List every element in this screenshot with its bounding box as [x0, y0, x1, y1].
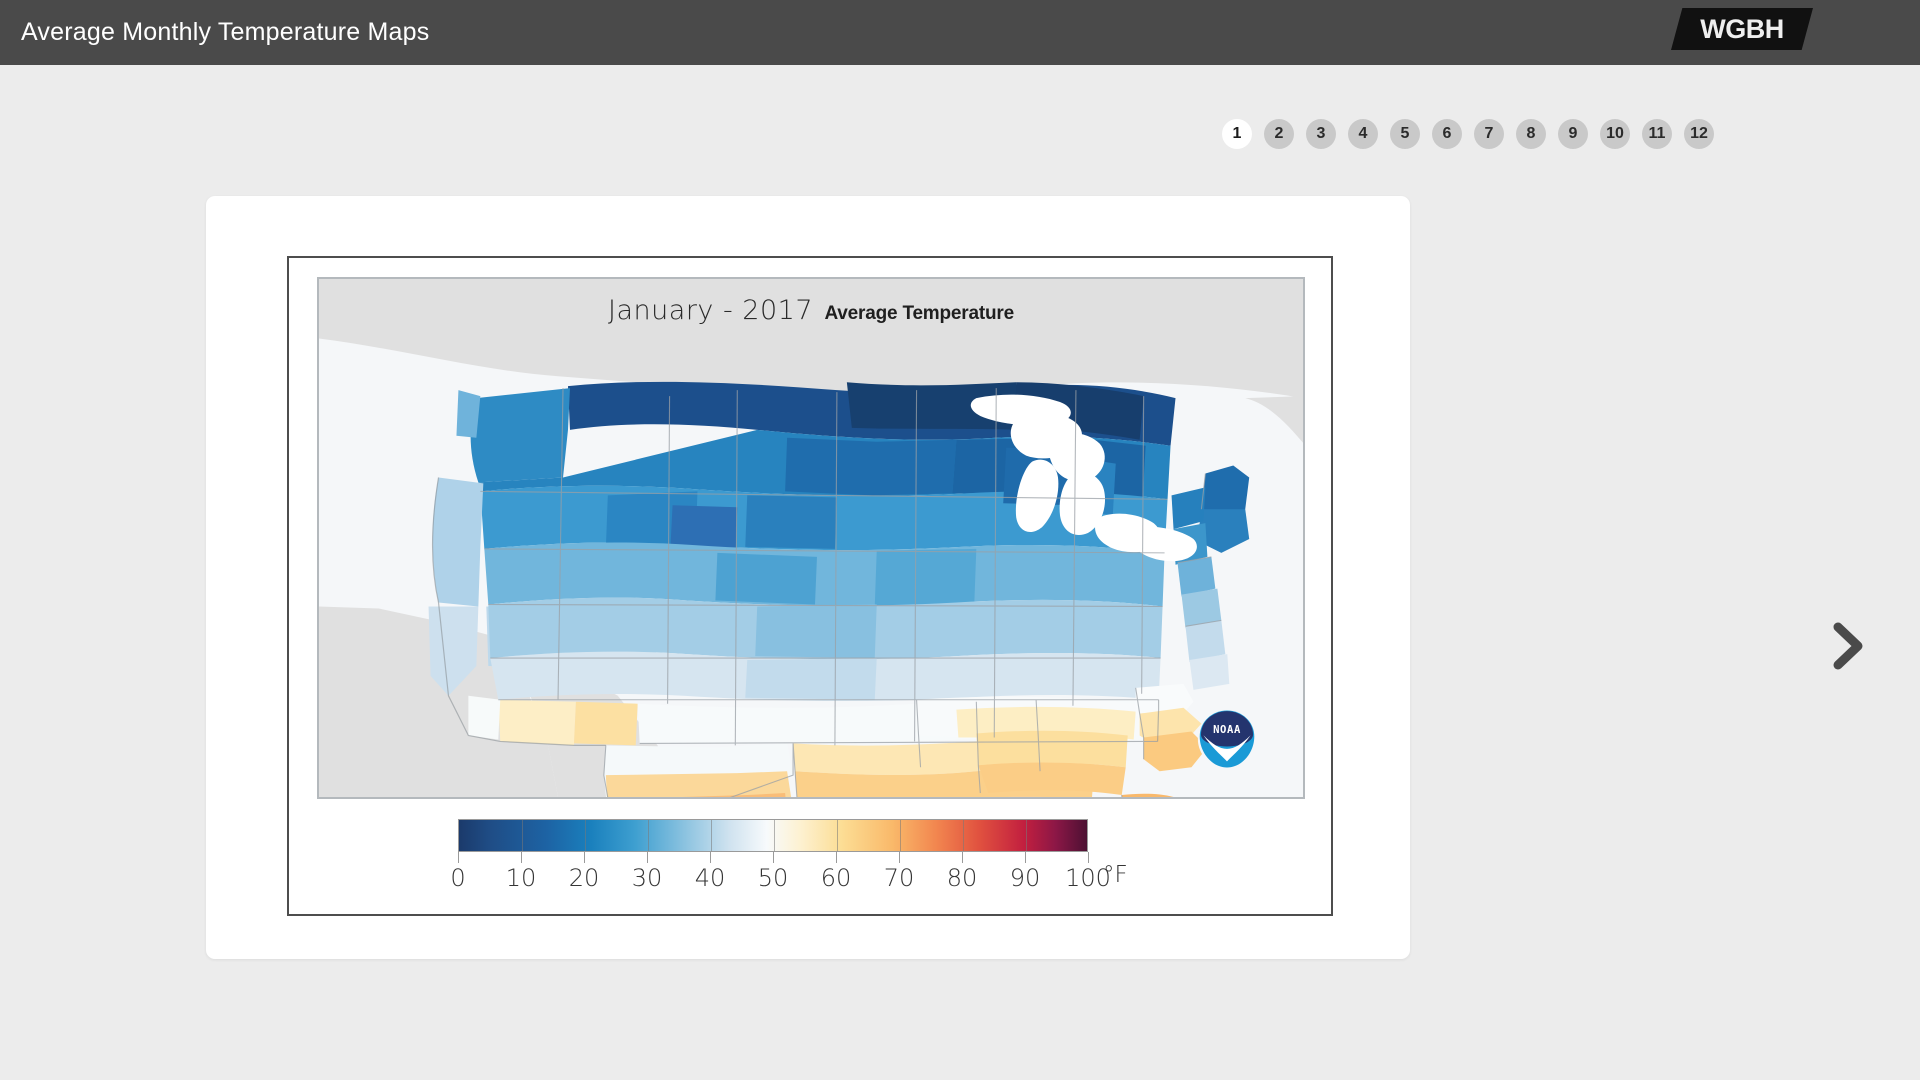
colorbar-tick-label-50: 50 — [758, 864, 789, 892]
noaa-logo: NOAA — [1196, 708, 1258, 770]
colorbar-tick-50 — [773, 852, 774, 863]
colorbar-separator-20 — [585, 820, 586, 851]
slide-card: January - 2017 Average Temperature NOAA … — [206, 196, 1410, 959]
colorbar-tick-60 — [836, 852, 837, 863]
colorbar-legend: °F 0102030405060708090100 — [458, 819, 1158, 894]
colorbar-tick-0 — [458, 852, 459, 863]
colorbar-separator-60 — [837, 820, 838, 851]
colorbar-tick-40 — [710, 852, 711, 863]
page-dot-11[interactable]: 11 — [1642, 119, 1672, 149]
page-dot-8[interactable]: 8 — [1516, 119, 1546, 149]
colorbar-tick-label-20: 20 — [569, 864, 600, 892]
colorbar-labels: °F 0102030405060708090100 — [458, 864, 1088, 894]
page-dot-6[interactable]: 6 — [1432, 119, 1462, 149]
colorbar-separator-10 — [522, 820, 523, 851]
page-title: Average Monthly Temperature Maps — [21, 18, 429, 47]
colorbar-separator-30 — [648, 820, 649, 851]
colorbar-tick-80 — [962, 852, 963, 863]
colorbar-tick-70 — [899, 852, 900, 863]
colorbar-tick-30 — [647, 852, 648, 863]
colorbar-tick-label-70: 70 — [884, 864, 915, 892]
chevron-right-icon — [1838, 627, 1858, 665]
colorbar-tick-label-40: 40 — [695, 864, 726, 892]
colorbar-separator-80 — [963, 820, 964, 851]
page-dot-10[interactable]: 10 — [1600, 119, 1630, 149]
logo-text: WGBH — [1671, 8, 1813, 50]
page-dot-7[interactable]: 7 — [1474, 119, 1504, 149]
next-slide-button[interactable] — [1825, 615, 1871, 677]
page-dot-12[interactable]: 12 — [1684, 119, 1714, 149]
temperature-map[interactable]: January - 2017 Average Temperature NOAA — [317, 277, 1305, 799]
colorbar-tick-100 — [1088, 852, 1089, 863]
colorbar-separator-50 — [774, 820, 775, 851]
colorbar-tick-20 — [584, 852, 585, 863]
figure-frame: January - 2017 Average Temperature NOAA … — [287, 256, 1333, 916]
map-graphic — [319, 279, 1303, 797]
page-dot-2[interactable]: 2 — [1264, 119, 1294, 149]
colorbar-tick-label-80: 80 — [947, 864, 978, 892]
colorbar-separator-40 — [711, 820, 712, 851]
page-dot-9[interactable]: 9 — [1558, 119, 1588, 149]
colorbar-tick-90 — [1025, 852, 1026, 863]
app-header: Average Monthly Temperature Maps WGBH — [0, 0, 1920, 65]
colorbar-gradient — [458, 819, 1088, 852]
colorbar-tick-10 — [521, 852, 522, 863]
page-dot-1[interactable]: 1 — [1222, 119, 1252, 149]
colorbar-tick-label-0: 0 — [450, 864, 465, 892]
page-dot-3[interactable]: 3 — [1306, 119, 1336, 149]
colorbar-tick-label-60: 60 — [821, 864, 852, 892]
page-dot-4[interactable]: 4 — [1348, 119, 1378, 149]
colorbar-tick-label-100: 100 — [1065, 864, 1111, 892]
colorbar-ticks — [458, 852, 1088, 864]
svg-text:NOAA: NOAA — [1213, 724, 1241, 736]
page-dot-5[interactable]: 5 — [1390, 119, 1420, 149]
colorbar-tick-label-90: 90 — [1010, 864, 1041, 892]
colorbar-separator-90 — [1026, 820, 1027, 851]
pagination: 123456789101112 — [1222, 119, 1714, 149]
colorbar-tick-label-30: 30 — [632, 864, 663, 892]
colorbar-separator-70 — [900, 820, 901, 851]
colorbar-tick-label-10: 10 — [506, 864, 537, 892]
wgbh-logo: WGBH — [1671, 8, 1813, 50]
